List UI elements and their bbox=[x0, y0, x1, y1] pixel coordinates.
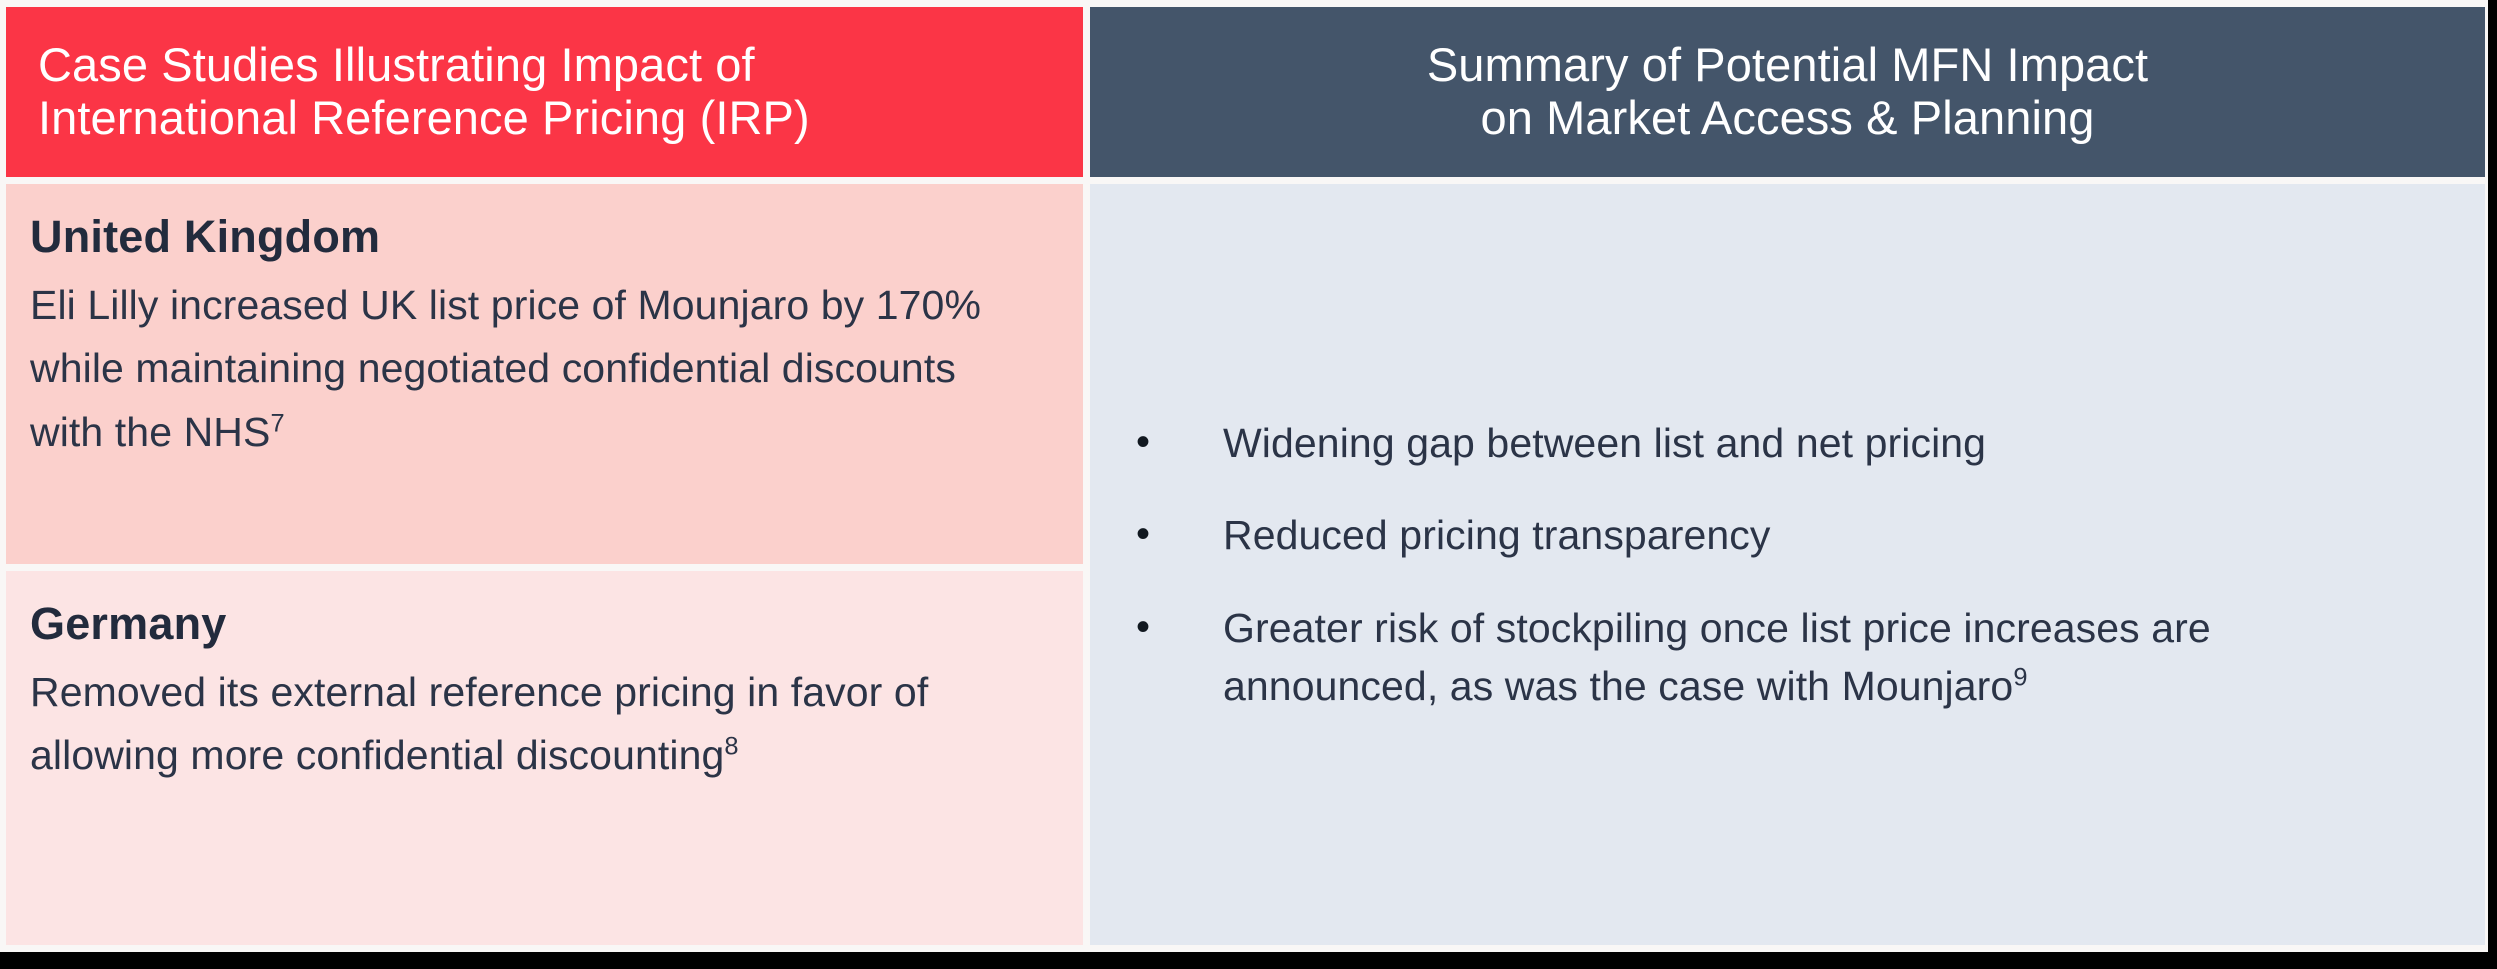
list-item: • Greater risk of stockpiling once list … bbox=[1128, 599, 2425, 715]
bullet-point-icon: • bbox=[1128, 506, 1223, 563]
bullet-text: Widening gap between list and net pricin… bbox=[1223, 414, 1986, 472]
frame-border-right bbox=[2488, 0, 2497, 969]
table-header-summary-text: Summary of Potential MFN Impact on Marke… bbox=[1427, 39, 2148, 144]
case-title-germany: Germany bbox=[30, 599, 1049, 649]
table-header-case-studies: Case Studies Illustrating Impact of Inte… bbox=[6, 7, 1083, 177]
bullet-text-body: Reduced pricing transparency bbox=[1223, 512, 1771, 558]
list-item: • Widening gap between list and net pric… bbox=[1128, 414, 2425, 472]
case-body-united-kingdom: Eli Lilly increased UK list price of Mou… bbox=[30, 274, 1030, 466]
case-footnote-germany: 8 bbox=[724, 733, 738, 761]
case-footnote-united-kingdom: 7 bbox=[270, 410, 284, 438]
case-cell-germany: Germany Removed its external reference p… bbox=[6, 571, 1083, 945]
case-body-germany: Removed its external reference pricing i… bbox=[30, 661, 1030, 789]
case-body-text-germany: Removed its external reference pricing i… bbox=[30, 669, 928, 779]
bullet-text: Greater risk of stockpiling once list pr… bbox=[1223, 599, 2425, 715]
list-item: • Reduced pricing transparency bbox=[1128, 506, 2425, 564]
bullet-text-body: Widening gap between list and net pricin… bbox=[1223, 420, 1986, 466]
bullet-footnote: 9 bbox=[2013, 663, 2027, 691]
summary-bullet-list: • Widening gap between list and net pric… bbox=[1128, 414, 2425, 715]
case-title-united-kingdom: United Kingdom bbox=[30, 212, 1049, 262]
bullet-text-body: Greater risk of stockpiling once list pr… bbox=[1223, 605, 2211, 709]
comparison-table: Case Studies Illustrating Impact of Inte… bbox=[6, 7, 2485, 945]
case-cell-united-kingdom: United Kingdom Eli Lilly increased UK li… bbox=[6, 184, 1083, 564]
summary-cell: • Widening gap between list and net pric… bbox=[1090, 184, 2485, 945]
bullet-text: Reduced pricing transparency bbox=[1223, 506, 1771, 564]
case-body-text-united-kingdom: Eli Lilly increased UK list price of Mou… bbox=[30, 282, 981, 456]
slide-canvas: Case Studies Illustrating Impact of Inte… bbox=[0, 0, 2497, 969]
table-header-summary: Summary of Potential MFN Impact on Marke… bbox=[1090, 7, 2485, 177]
table-header-case-studies-text: Case Studies Illustrating Impact of Inte… bbox=[38, 39, 810, 144]
frame-border-bottom bbox=[0, 952, 2497, 969]
bullet-point-icon: • bbox=[1128, 599, 1223, 656]
bullet-point-icon: • bbox=[1128, 414, 1223, 471]
